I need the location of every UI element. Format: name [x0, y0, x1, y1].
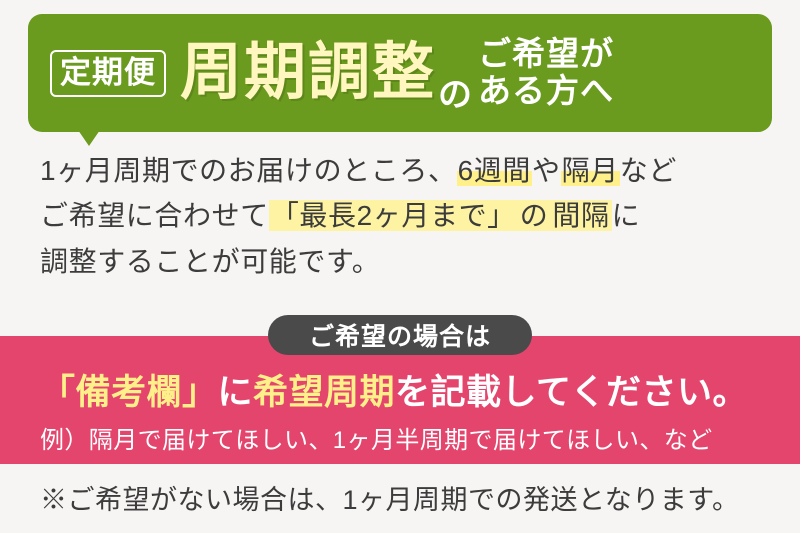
body-line1-part-c: や	[532, 155, 561, 186]
footer-note: ※ご希望がない場合は、1ヶ月周期での発送となります。	[40, 478, 740, 517]
body-line1-highlight-2: 隔月	[561, 155, 620, 186]
body-line2-part-a: ご希望に合わせて	[40, 200, 269, 231]
request-case-label: ご希望の場合は	[268, 315, 532, 355]
promo-page: 定期便 周期調整 の ご希望が ある方へ 1ヶ月周期でのお届けのところ、6週間や…	[0, 0, 800, 533]
body-paragraph: 1ヶ月周期でのお届けのところ、6週間や隔月など ご希望に合わせて「最長2ヶ月まで…	[40, 148, 770, 284]
body-line-2: ご希望に合わせて「最長2ヶ月まで」の間隔に	[40, 193, 770, 238]
pink-band-part-d: を記載してください。	[395, 373, 748, 412]
headline-sub: ご希望が ある方へ	[478, 36, 614, 110]
pink-band-remarks-keyword: 「備考欄」	[40, 373, 218, 412]
body-line-1: 1ヶ月周期でのお届けのところ、6週間や隔月など	[40, 148, 770, 193]
pink-band-headline: 「備考欄」に希望周期を記載してください。	[40, 364, 748, 415]
pink-band-cycle-keyword: 希望周期	[253, 373, 395, 412]
body-line2-highlight-2: の	[518, 200, 551, 231]
banner-tail-arrow	[78, 130, 100, 146]
pink-instruction-band: 「備考欄」に希望周期を記載してください。 例）隔月で届けてほしい、1ヶ月半周期で…	[0, 336, 800, 464]
body-line2-highlight-1: 「最長2ヶ月まで」	[269, 200, 518, 231]
pink-band-example: 例）隔月で届けてほしい、1ヶ月半周期で届けてほしい、など	[40, 420, 713, 455]
headline-sub-line2: ある方へ	[478, 73, 614, 110]
body-line1-part-a: 1ヶ月周期でのお届けのところ、	[40, 155, 457, 186]
headline-main: 周期調整	[180, 42, 436, 104]
header-banner: 定期便 周期調整 の ご希望が ある方へ	[28, 14, 772, 132]
subscription-badge: 定期便	[50, 50, 166, 97]
body-line1-highlight-1: 6週間	[457, 155, 532, 186]
body-line2-highlight-3: 間隔	[550, 200, 611, 231]
headline-sub-line1: ご希望が	[478, 36, 614, 73]
pink-band-part-b: に	[218, 373, 254, 412]
headline-particle: の	[438, 67, 472, 116]
body-line-3: 調整することが可能です。	[40, 239, 770, 284]
body-line2-part-e: に	[612, 200, 641, 231]
body-line1-part-e: など	[620, 155, 677, 186]
